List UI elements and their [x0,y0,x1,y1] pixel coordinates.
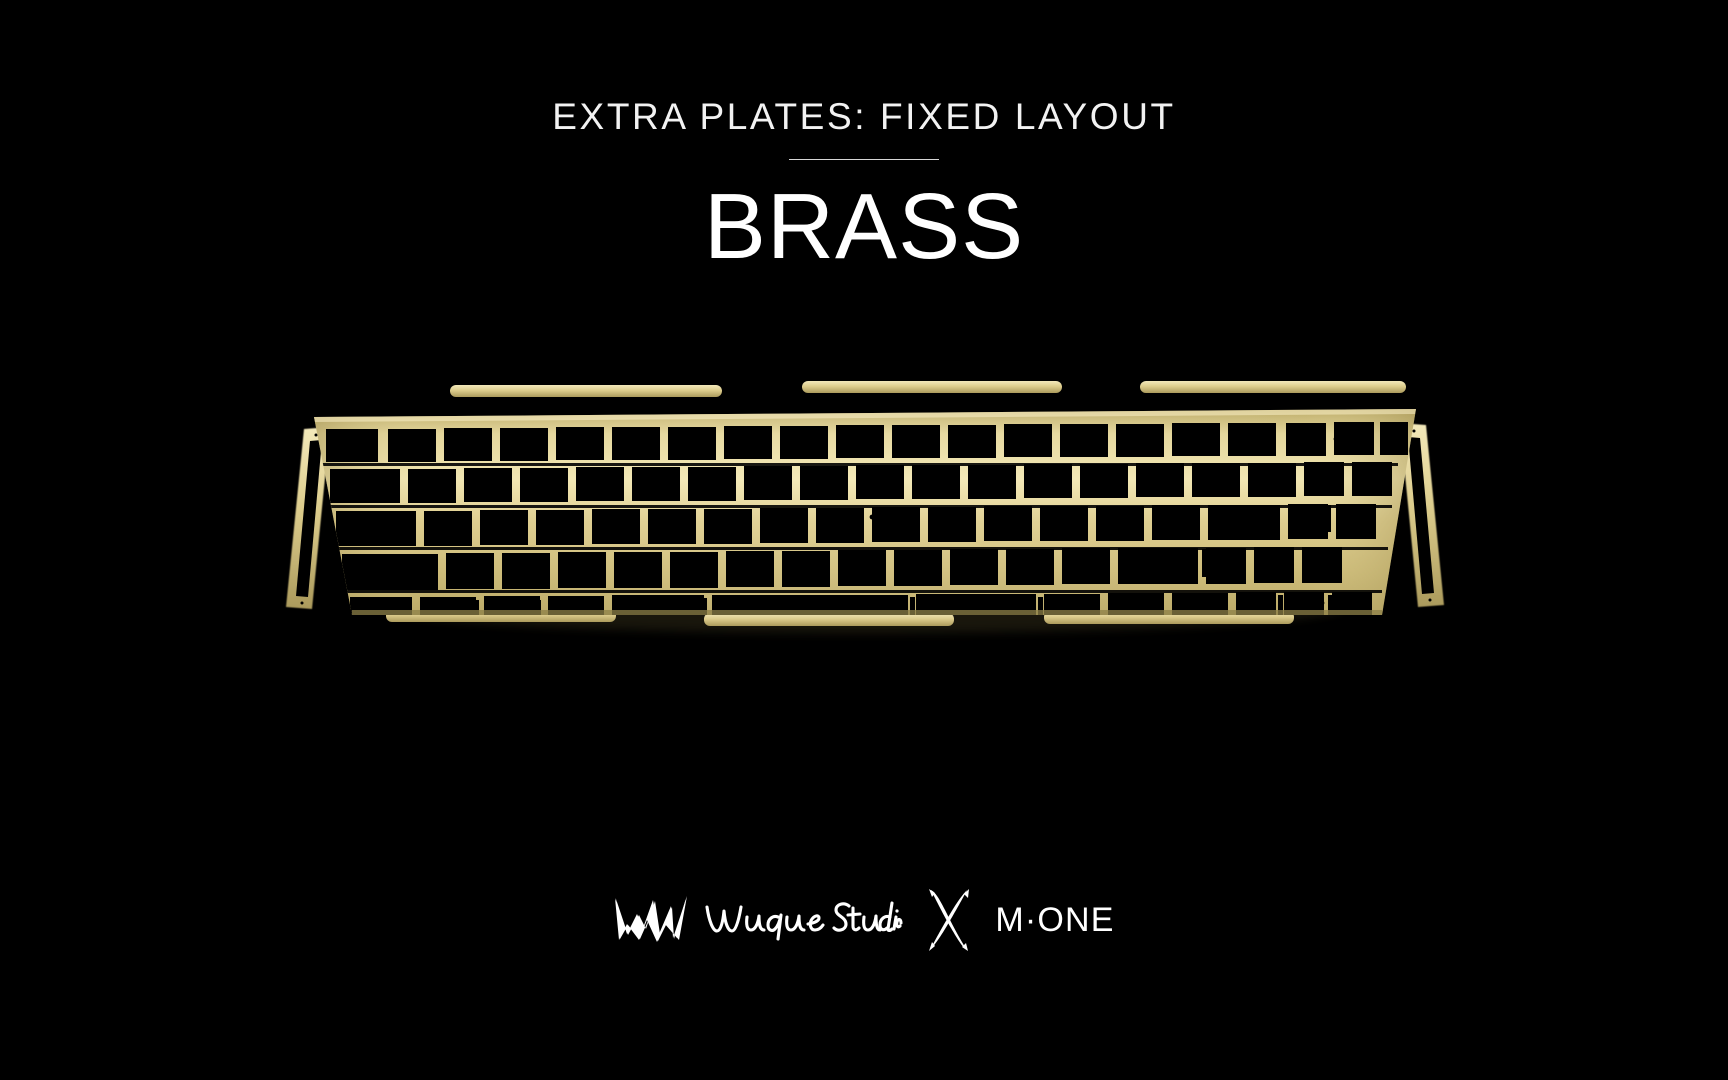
wuque-w-logo-icon [613,894,689,946]
page-eyebrow: EXTRA PLATES: FIXED LAYOUT [0,98,1728,137]
poster-canvas: EXTRA PLATES: FIXED LAYOUT BRASS [0,0,1728,1080]
product-image [0,352,1728,652]
plate-row-4 [342,547,1342,590]
title-divider [789,159,939,160]
x-brush-icon [923,888,975,952]
plate-body [314,409,1416,631]
brand-lockup: M·ONE [0,888,1728,952]
plate-row-1 [326,422,1408,462]
brass-plate-render [274,357,1454,647]
page-title: BRASS [0,178,1728,276]
wuque-studio-wordmark [703,895,903,945]
plate-row-2 [330,462,1392,503]
divider-wrap [0,159,1728,160]
plate-top-tabs [450,381,1406,397]
mone-wordmark: M·ONE [995,903,1114,937]
plate-bottom-edge [352,610,1382,615]
plate-row-3 [336,504,1376,546]
header: EXTRA PLATES: FIXED LAYOUT BRASS [0,0,1728,275]
wuque-studio-brand [613,894,903,946]
